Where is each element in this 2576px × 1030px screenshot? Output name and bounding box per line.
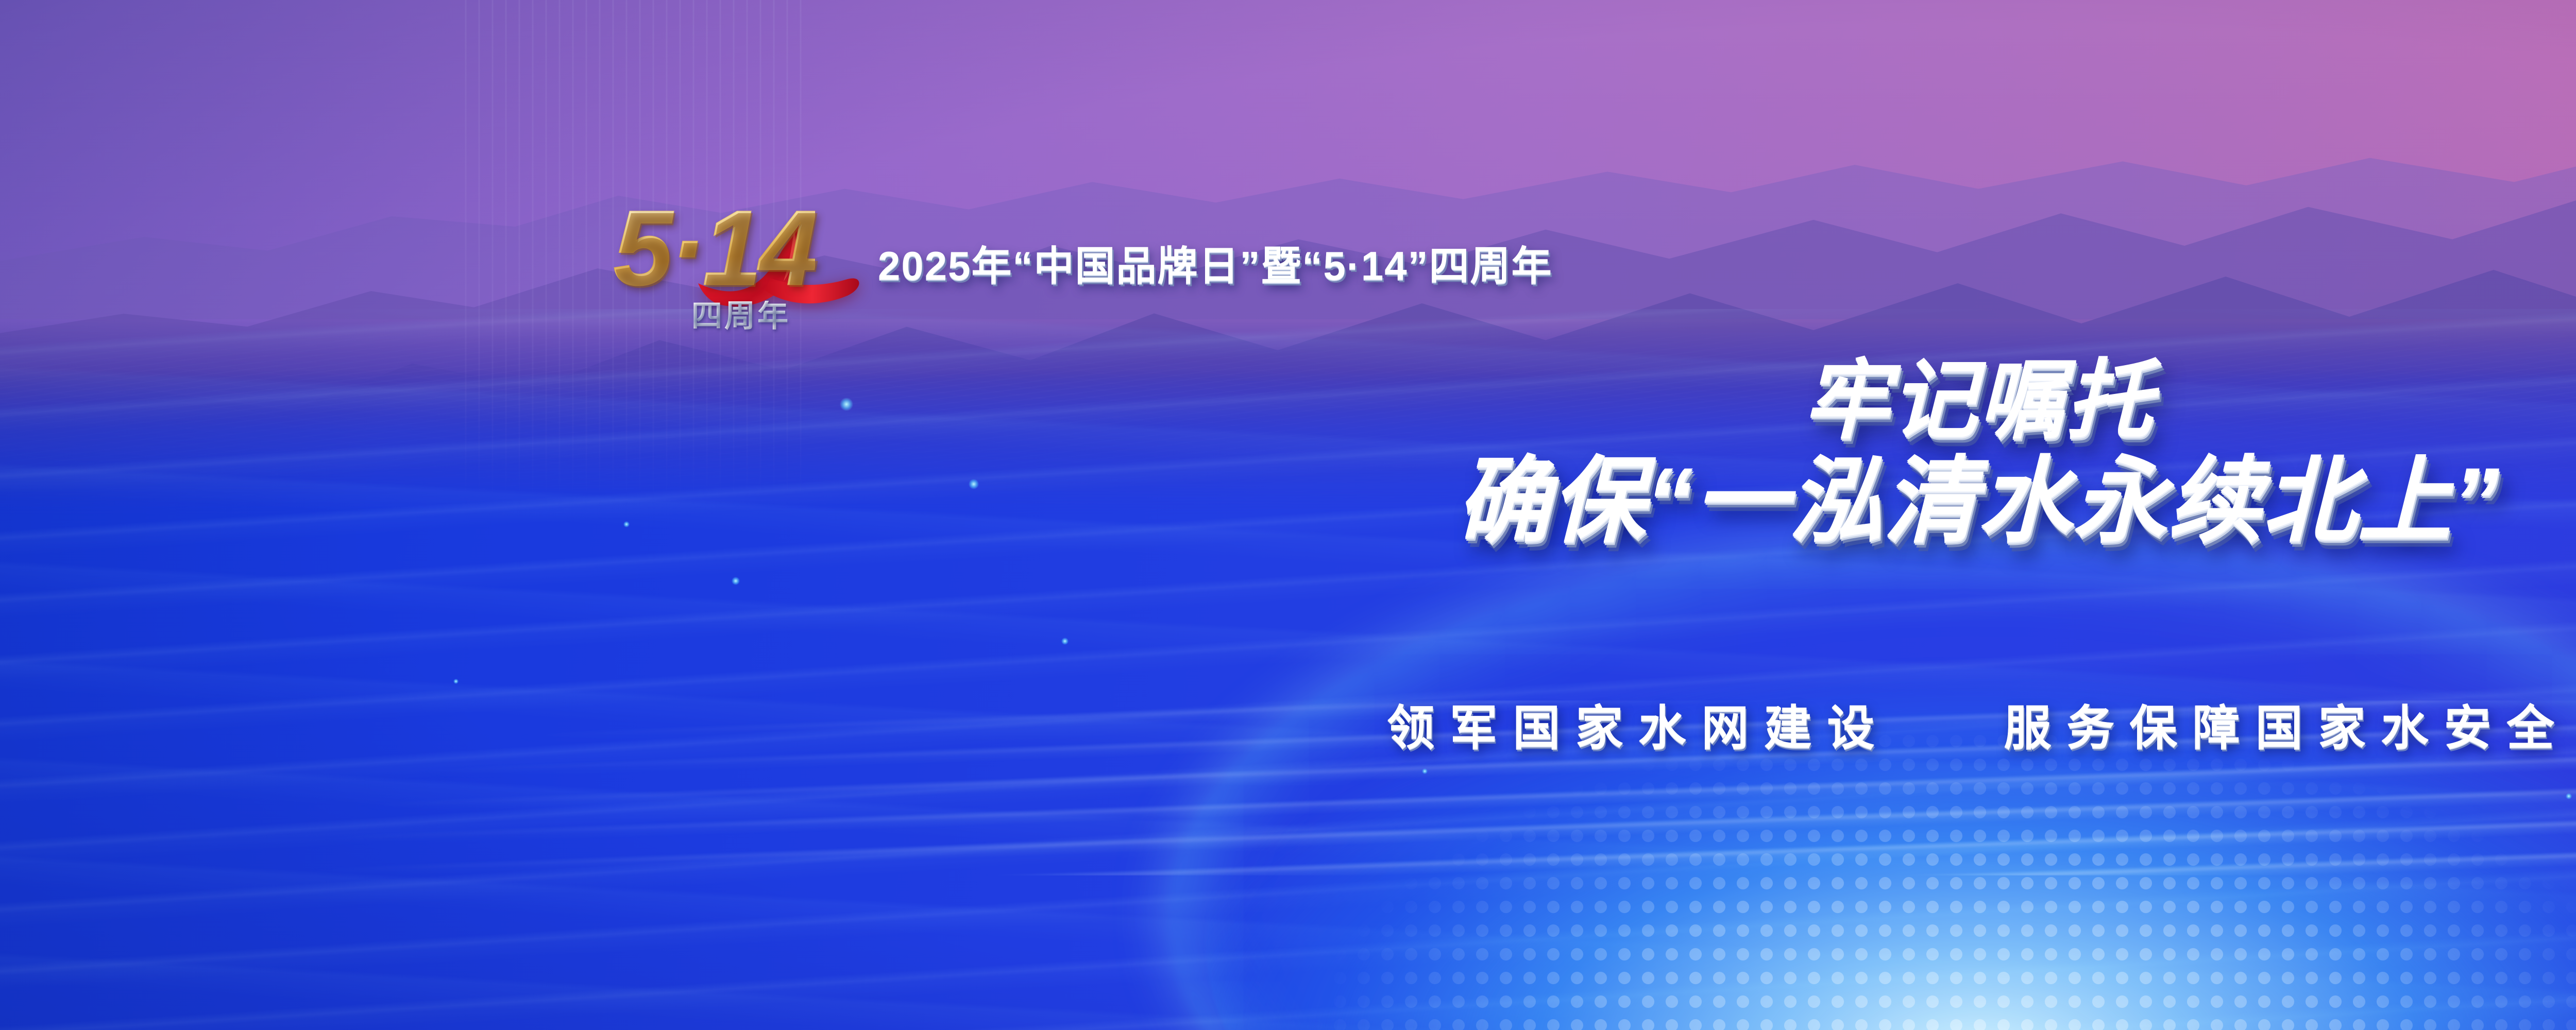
anniversary-logo: 5·14 四周年 [613,191,855,345]
anniversary-number: 5·14 [613,195,815,302]
banner-stage: 5·14 四周年 2025年“中国品牌日”暨“5·14”四周年 [0,0,2576,1030]
banner-content: 5·14 四周年 2025年“中国品牌日”暨“5·14”四周年 [0,0,2576,1030]
tagline-right: 服务保障国家水安全 [2004,702,2570,754]
event-title: 2025年“中国品牌日”暨“5·14”四周年 [878,246,1553,290]
tagline-block: 领军国家水网建设 服务保障国家水安全 [0,705,2576,752]
headline-line-1: 牢记嘱托 [0,355,2576,445]
anniversary-sub-label: 四周年 [691,301,790,332]
event-lockup: 5·14 四周年 2025年“中国品牌日”暨“5·14”四周年 [613,191,1553,345]
headline-line-2: 确保“一泓清水永续北上” [0,449,2576,554]
headline-block: 牢记嘱托 确保“一泓清水永续北上” [0,355,2576,554]
tagline-left: 领军国家水网建设 [1387,702,1890,754]
